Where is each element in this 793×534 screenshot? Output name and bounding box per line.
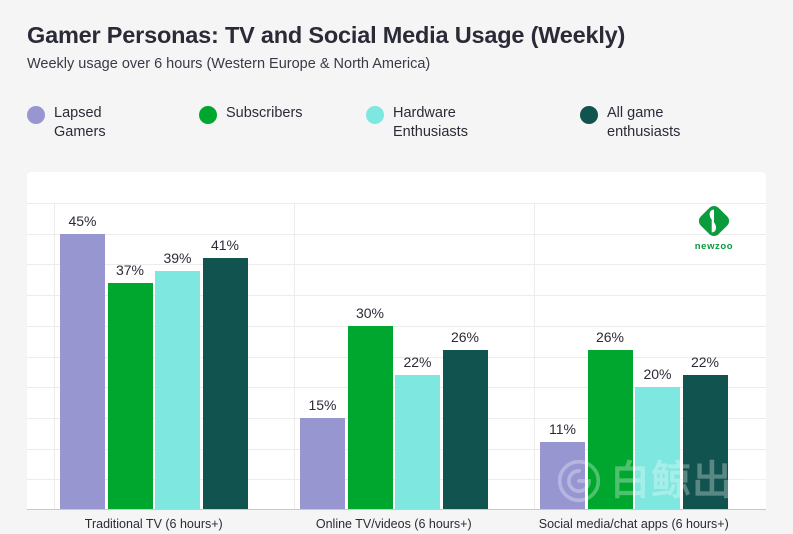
bar-value-label: 45% <box>68 213 96 229</box>
bar-value-label: 39% <box>163 250 191 266</box>
bar-value-label: 20% <box>643 366 671 382</box>
bar[interactable]: 11% <box>540 442 585 510</box>
chart-x-axis-labels: Traditional TV (6 hours+)Online TV/video… <box>27 511 766 534</box>
legend-item-label: Subscribers <box>226 104 303 123</box>
x-axis-tick-label: Online TV/videos (6 hours+) <box>316 517 472 531</box>
x-axis-tick-label: Traditional TV (6 hours+) <box>85 517 223 531</box>
bar-value-label: 41% <box>211 237 239 253</box>
bar[interactable]: 26% <box>443 350 488 510</box>
bar[interactable]: 22% <box>683 375 728 510</box>
legend-swatch-icon <box>27 106 45 124</box>
page-title: Gamer Personas: TV and Social Media Usag… <box>27 22 625 49</box>
bar[interactable]: 20% <box>635 387 680 510</box>
legend-item-all-game-enthusiasts[interactable]: All game enthusiasts <box>580 104 680 141</box>
bar[interactable]: 26% <box>588 350 633 510</box>
legend-item-lapsed-gamers[interactable]: Lapsed Gamers <box>27 104 106 141</box>
bar[interactable]: 30% <box>348 326 393 510</box>
bar-value-label: 11% <box>549 421 576 437</box>
x-axis-tick-label: Social media/chat apps (6 hours+) <box>539 517 729 531</box>
bar[interactable]: 37% <box>108 283 153 510</box>
bar[interactable]: 22% <box>395 375 440 510</box>
bar[interactable]: 45% <box>60 234 105 510</box>
legend-swatch-icon <box>199 106 217 124</box>
chart-x-axis-line <box>27 509 766 510</box>
legend-swatch-icon <box>366 106 384 124</box>
chart-legend: Lapsed Gamers Subscribers Hardware Enthu… <box>27 104 767 154</box>
bar[interactable]: 15% <box>300 418 345 510</box>
chart-subtitle: Weekly usage over 6 hours (Western Europ… <box>27 56 430 72</box>
newzoo-diamond-icon <box>695 202 733 240</box>
bar-value-label: 15% <box>308 397 336 413</box>
bar-value-label: 37% <box>116 262 144 278</box>
newzoo-logo: newzoo <box>688 202 740 254</box>
legend-item-subscribers[interactable]: Subscribers <box>199 104 303 124</box>
bar-value-label: 26% <box>596 329 624 345</box>
bar-value-label: 26% <box>451 329 479 345</box>
newzoo-wordmark: newzoo <box>688 241 740 252</box>
bar-value-label: 22% <box>691 354 719 370</box>
legend-item-hardware-enthusiasts[interactable]: Hardware Enthusiasts <box>366 104 468 141</box>
legend-swatch-icon <box>580 106 598 124</box>
legend-item-label: All game enthusiasts <box>607 104 680 141</box>
bar[interactable]: 41% <box>203 258 248 510</box>
chart-header: Gamer Personas: TV and Social Media Usag… <box>0 0 793 172</box>
bar-value-label: 22% <box>403 354 431 370</box>
legend-item-label: Lapsed Gamers <box>54 104 106 141</box>
bar-value-label: 30% <box>356 305 384 321</box>
bar[interactable]: 39% <box>155 271 200 510</box>
chart-bars: 45%37%39%41%15%30%22%26%11%26%20%22% <box>27 203 766 510</box>
legend-item-label: Hardware Enthusiasts <box>393 104 468 141</box>
chart-plot-area: 45%37%39%41%15%30%22%26%11%26%20%22% new… <box>27 172 766 510</box>
